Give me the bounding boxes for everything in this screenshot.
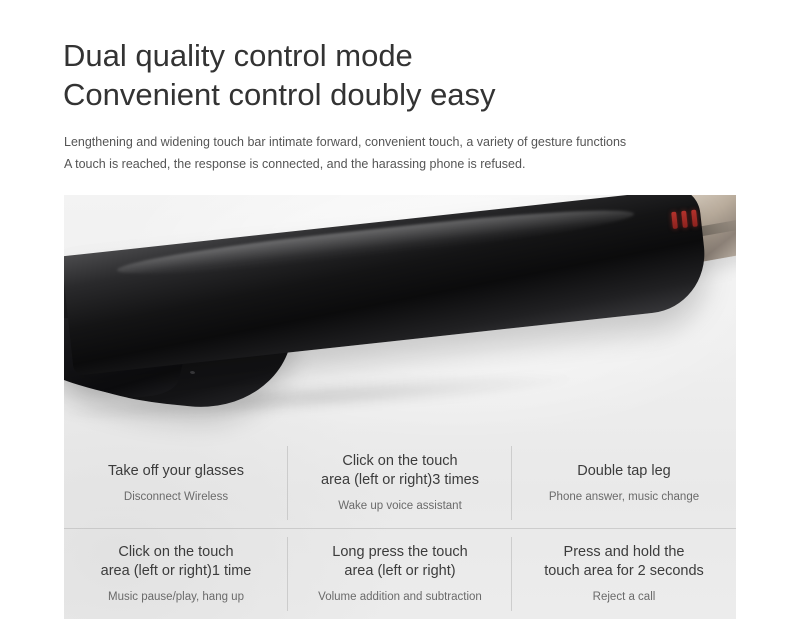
led-bar-icon (691, 210, 698, 227)
gesture-subtitle: Music pause/play, hang up (108, 590, 244, 605)
gesture-subtitle: Volume addition and subtraction (318, 590, 482, 605)
headline-secondary: Convenient control doubly easy (63, 75, 763, 114)
subcopy: Lengthening and widening touch bar intim… (64, 131, 764, 175)
gesture-cell-take-off-glasses: Take off your glasses Disconnect Wireles… (64, 438, 288, 528)
gesture-row-2: Click on the touch area (left or right)1… (64, 529, 736, 619)
temple-arm-body (64, 195, 710, 376)
led-bar-icon (671, 212, 678, 229)
gesture-table: Take off your glasses Disconnect Wireles… (64, 438, 736, 619)
page-root: Dual quality control mode Convenient con… (0, 0, 800, 619)
gesture-title: Long press the touch area (left or right… (332, 543, 467, 581)
gesture-cell-press-hold-2s: Press and hold the touch area for 2 seco… (512, 529, 736, 619)
gesture-title: Click on the touch area (left or right)1… (101, 543, 252, 581)
product-image-glasses-temple (64, 195, 736, 425)
gesture-title: Click on the touch area (left or right)3… (321, 452, 479, 490)
gesture-cell-double-tap: Double tap leg Phone answer, music chang… (512, 438, 736, 528)
subcopy-line-1: Lengthening and widening touch bar intim… (64, 131, 764, 153)
gesture-subtitle: Disconnect Wireless (124, 490, 228, 505)
page-title: Dual quality control mode Convenient con… (63, 36, 763, 114)
led-bar-icon (681, 211, 688, 228)
gesture-cell-single-tap: Click on the touch area (left or right)1… (64, 529, 288, 619)
subcopy-line-2: A touch is reached, the response is conn… (64, 153, 764, 175)
gesture-title: Press and hold the touch area for 2 seco… (544, 543, 704, 581)
gesture-title: Double tap leg (577, 462, 671, 481)
gesture-subtitle: Wake up voice assistant (338, 499, 462, 514)
headline-primary: Dual quality control mode (63, 36, 763, 75)
gesture-subtitle: Reject a call (593, 590, 656, 605)
microphone-hole-icon (190, 371, 195, 375)
gesture-row-1: Take off your glasses Disconnect Wireles… (64, 438, 736, 529)
gesture-title: Take off your glasses (108, 462, 244, 481)
gesture-subtitle: Phone answer, music change (549, 490, 699, 505)
product-hero-panel: Take off your glasses Disconnect Wireles… (64, 195, 736, 619)
gesture-cell-long-press: Long press the touch area (left or right… (288, 529, 512, 619)
gesture-cell-triple-tap: Click on the touch area (left or right)3… (288, 438, 512, 528)
